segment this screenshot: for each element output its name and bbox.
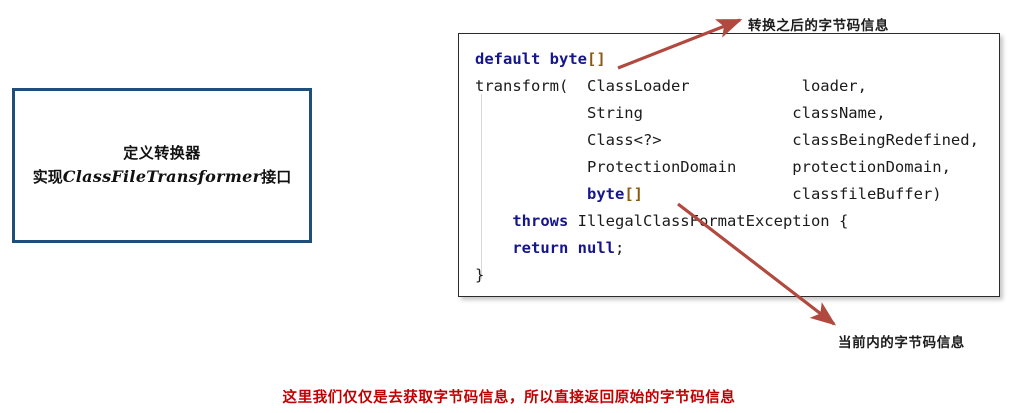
code-line: byte[] classfileBuffer) xyxy=(475,181,979,208)
code-token-plain: IllegalClassFormatException { xyxy=(568,212,848,230)
definition-box-line1: 定义转换器 xyxy=(123,143,201,165)
definition-box: 定义转换器 实现ClassFileTransformer接口 xyxy=(12,88,312,243)
code-token-plain xyxy=(475,185,587,203)
code-token-plain xyxy=(475,239,512,257)
code-token-keyword: default xyxy=(475,50,540,68)
code-block-content: default byte[]transform( ClassLoader loa… xyxy=(475,46,979,289)
definition-box-line2-suffix: 接口 xyxy=(261,168,291,186)
code-line: } xyxy=(475,262,979,289)
code-line: String className, xyxy=(475,100,979,127)
code-token-plain: ProtectionDomain protectionDomain, xyxy=(475,158,951,176)
code-token-plain: Class<?> classBeingRedefined, xyxy=(475,131,979,149)
code-line: throws IllegalClassFormatException { xyxy=(475,208,979,235)
code-token-plain: ; xyxy=(615,239,624,257)
code-line: Class<?> classBeingRedefined, xyxy=(475,127,979,154)
code-token-plain: me, xyxy=(858,104,886,122)
annotation-top-label: 转换之后的字节码信息 xyxy=(748,14,889,34)
code-token-bracket: [] xyxy=(587,50,606,68)
code-line: ProtectionDomain protectionDomain, xyxy=(475,154,979,181)
code-token-plain xyxy=(568,239,577,257)
code-token-plain: classfileBuffer) xyxy=(643,185,942,203)
definition-box-interface-name: ClassFileTransformer xyxy=(63,167,262,186)
code-token-plain xyxy=(540,50,549,68)
bottom-caption: 这里我们仅仅是去获取字节码信息，所以直接返回原始的字节码信息 xyxy=(0,386,1018,407)
code-token-keyword: throws xyxy=(512,212,568,230)
code-block: default byte[]transform( ClassLoader loa… xyxy=(458,33,1000,297)
code-token-keyword: null xyxy=(578,239,615,257)
code-line: default byte[] xyxy=(475,46,979,73)
code-token-keyword: byte xyxy=(587,185,624,203)
code-token-keyword: return xyxy=(512,239,568,257)
code-token-plain: } xyxy=(475,266,484,284)
code-token-bracket: [] xyxy=(624,185,643,203)
code-line: return null; xyxy=(475,235,979,262)
code-line: transform( ClassLoader loader, xyxy=(475,73,979,100)
code-token-keyword: byte xyxy=(550,50,587,68)
definition-box-line2: 实现ClassFileTransformer接口 xyxy=(33,165,292,189)
annotation-bottom-label: 当前内的字节码信息 xyxy=(838,331,965,351)
code-token-plain xyxy=(475,212,512,230)
code-token-plain: String classNa xyxy=(475,104,858,122)
definition-box-line2-prefix: 实现 xyxy=(33,168,63,186)
code-token-plain: transform( ClassLoader loader, xyxy=(475,77,867,95)
